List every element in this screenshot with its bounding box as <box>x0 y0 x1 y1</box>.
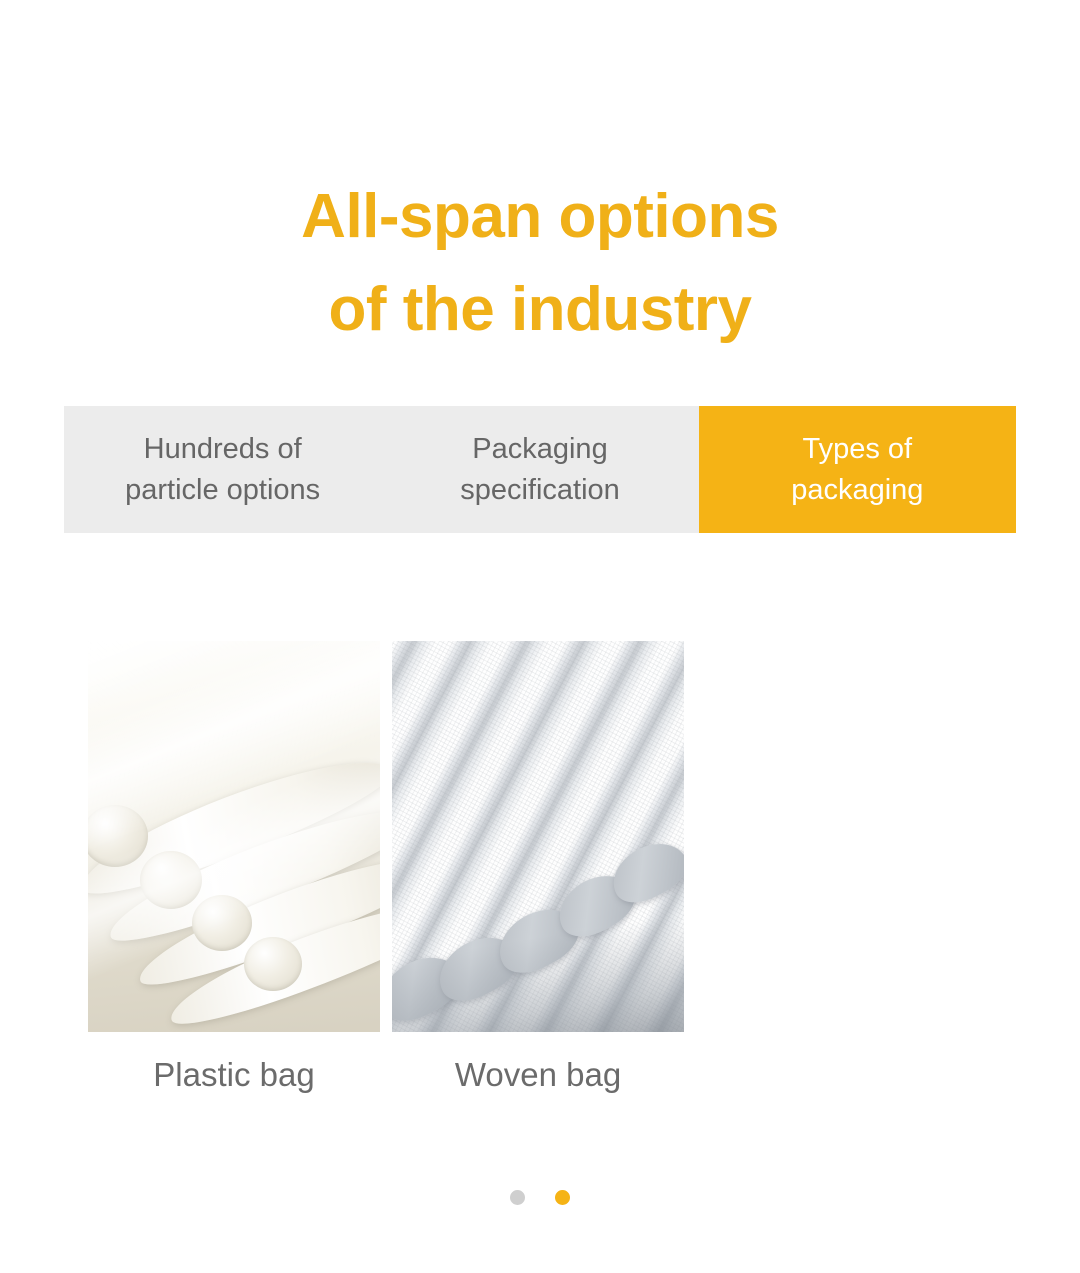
slide-root: All-span options of the industry Hundred… <box>0 0 1080 1273</box>
plastic-bag-gloss <box>88 641 380 1032</box>
gallery: Plastic bag Woven bag <box>88 641 688 1033</box>
tab-bar: Hundreds of particle options Packaging s… <box>64 406 1016 533</box>
tab-types-of-packaging[interactable]: Types of packaging <box>699 406 1016 533</box>
woven-bag-photo <box>392 641 684 1032</box>
tab-packaging-specification[interactable]: Packaging specification <box>381 406 698 533</box>
gallery-card-woven-bag[interactable]: Woven bag <box>392 641 684 1032</box>
plastic-bag-photo <box>88 641 380 1032</box>
gallery-card-plastic-bag[interactable]: Plastic bag <box>88 641 380 1032</box>
pagination-dot-2[interactable] <box>555 1190 570 1205</box>
pagination-dot-1[interactable] <box>510 1190 525 1205</box>
page-title: All-span options of the industry <box>0 170 1080 356</box>
tab-hundreds-of-particle-options[interactable]: Hundreds of particle options <box>64 406 381 533</box>
gallery-card-caption: Woven bag <box>392 1053 684 1097</box>
carousel-pagination <box>0 1190 1080 1205</box>
gallery-card-caption: Plastic bag <box>88 1053 380 1097</box>
